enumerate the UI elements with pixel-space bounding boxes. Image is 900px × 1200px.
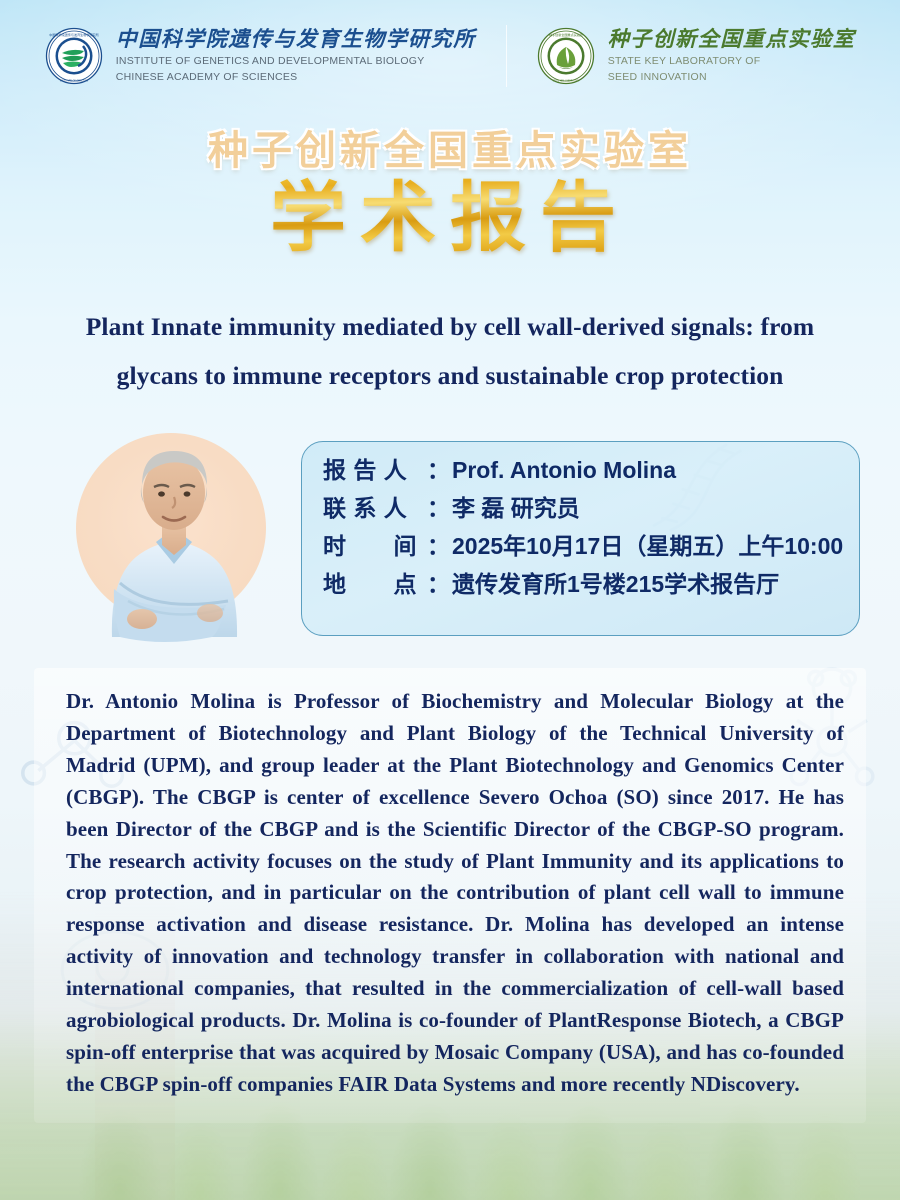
info-row-venue: 地 点 ： 遗传发育所1号楼215学术报告厅 — [323, 573, 859, 596]
info-colon-contact: ： — [427, 497, 450, 520]
lab-logo-block: 种子创新全国重点实验室 STATE KEY LABORATORY 种子创新全国重… — [507, 27, 856, 85]
institute-name-en-line2: CHINESE ACADEMY OF SCIENCES — [116, 70, 476, 84]
info-colon-venue: ： — [427, 573, 450, 596]
info-row-time: 时 间 ： 2025年10月17日（星期五）上午10:00 — [323, 535, 859, 558]
info-colon-speaker: ： — [427, 459, 450, 482]
institute-logo-names: 中国科学院遗传与发育生物学研究所 INSTITUTE OF GENETICS A… — [116, 27, 476, 85]
institute-name-cn: 中国科学院遗传与发育生物学研究所 — [116, 27, 476, 52]
lab-name-cn: 种子创新全国重点实验室 — [608, 27, 856, 52]
banner-lab-name: 种子创新全国重点实验室 — [0, 118, 900, 176]
info-label-time: 时 间 — [323, 535, 427, 558]
speaker-bio-text: Dr. Antonio Molina is Professor of Bioch… — [66, 686, 844, 1101]
poster-root: 中国科学院遗传与发育生物学研究所 INSTITUTE OF GENETICS 中… — [0, 0, 900, 1200]
speaker-bio-panel: Dr. Antonio Molina is Professor of Bioch… — [34, 668, 866, 1123]
svg-text:INSTITUTE OF GENETICS: INSTITUTE OF GENETICS — [60, 80, 89, 83]
svg-text:中国科学院遗传与发育生物学研究所: 中国科学院遗传与发育生物学研究所 — [49, 32, 99, 37]
lab-name-en-line2: SEED INNOVATION — [608, 70, 856, 84]
portrait-figure-icon — [68, 423, 288, 653]
info-row-speaker: 报 告 人 ： Prof. Antonio Molina — [323, 459, 859, 482]
info-label-venue: 地 点 — [323, 573, 427, 596]
svg-text:种子创新全国重点实验室: 种子创新全国重点实验室 — [549, 32, 583, 37]
igdb-emblem-icon: 中国科学院遗传与发育生物学研究所 INSTITUTE OF GENETICS — [45, 27, 103, 85]
info-value-speaker: Prof. Antonio Molina — [452, 459, 676, 482]
institute-logo-block: 中国科学院遗传与发育生物学研究所 INSTITUTE OF GENETICS 中… — [45, 27, 506, 85]
svg-text:STATE KEY LABORATORY: STATE KEY LABORATORY — [552, 80, 579, 83]
info-value-contact: 李 磊 研究员 — [452, 497, 580, 520]
info-row-contact: 联 系 人 ： 李 磊 研究员 — [323, 497, 859, 520]
speaker-portrait — [68, 423, 288, 653]
talk-title: Plant Innate immunity mediated by cell w… — [44, 303, 856, 401]
banner-report-type: 学术报告 — [0, 176, 900, 263]
lab-logo-names: 种子创新全国重点实验室 STATE KEY LABORATORY OF SEED… — [608, 27, 856, 85]
event-info-box: 报 告 人 ： Prof. Antonio Molina 联 系 人 ： 李 磊… — [301, 441, 860, 636]
info-value-time: 2025年10月17日（星期五）上午10:00 — [452, 535, 843, 558]
institute-name-en-line1: INSTITUTE OF GENETICS AND DEVELOPMENTAL … — [116, 54, 476, 68]
info-label-speaker: 报 告 人 — [323, 459, 427, 482]
info-colon-time: ： — [427, 535, 450, 558]
lab-name-en-line1: STATE KEY LABORATORY OF — [608, 54, 856, 68]
info-value-venue: 遗传发育所1号楼215学术报告厅 — [452, 573, 779, 596]
info-label-contact: 联 系 人 — [323, 497, 427, 520]
poster-header: 中国科学院遗传与发育生物学研究所 INSTITUTE OF GENETICS 中… — [0, 0, 900, 112]
seed-innovation-emblem-icon: 种子创新全国重点实验室 STATE KEY LABORATORY — [537, 27, 595, 85]
